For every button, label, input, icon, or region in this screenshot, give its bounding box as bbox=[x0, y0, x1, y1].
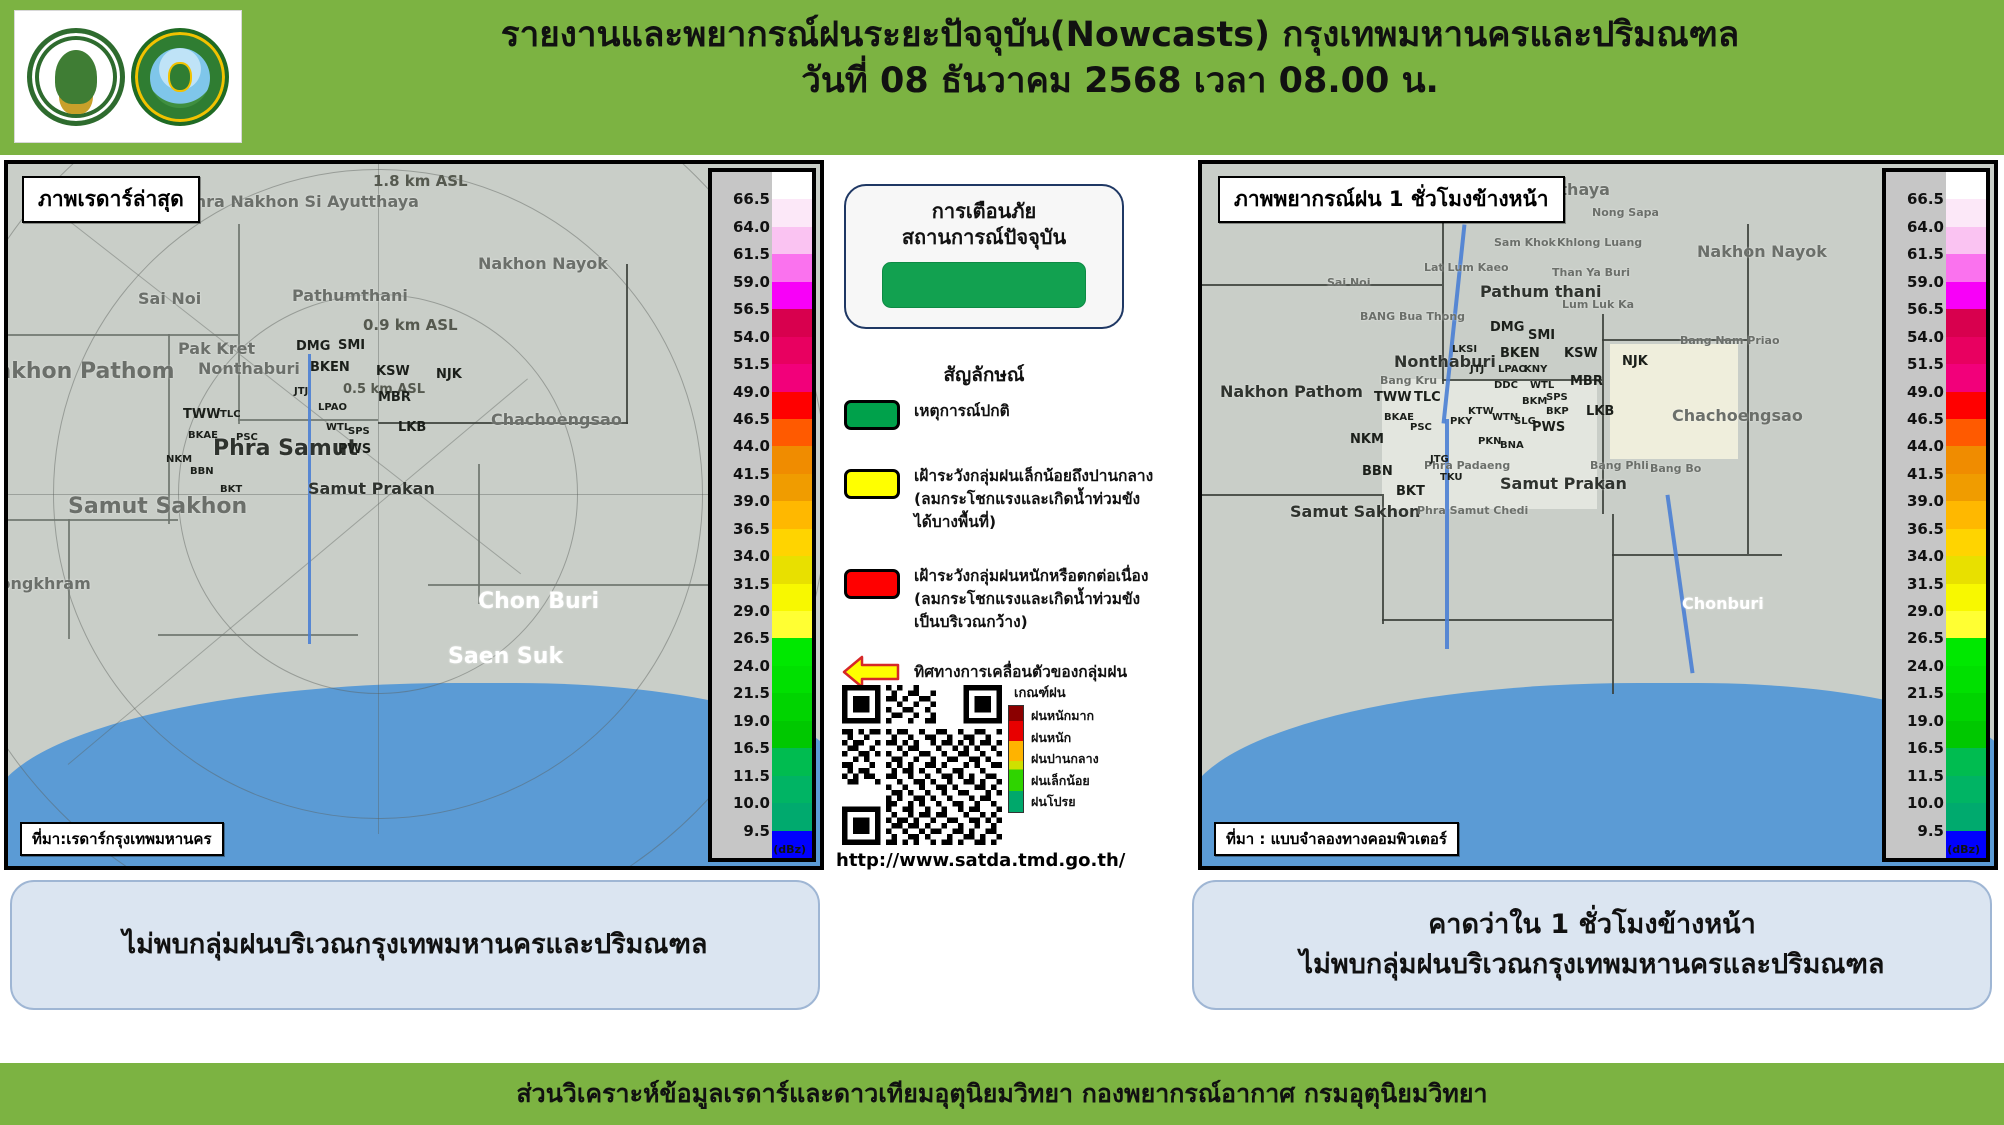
legend-text-direction: ทิศทางการเคลื่อนตัวของกลุ่มฝน bbox=[914, 661, 1127, 684]
border-line bbox=[1612, 554, 1782, 556]
colorbar-band bbox=[772, 172, 812, 199]
province-label: Chachoengsao bbox=[1672, 406, 1803, 425]
station-code: NKM bbox=[1350, 432, 1384, 447]
border-line bbox=[1747, 224, 1749, 554]
station-code: SMI bbox=[338, 338, 365, 353]
legend-line: ได้บางพื้นที่) bbox=[914, 511, 1153, 534]
colorbar-band bbox=[772, 254, 812, 281]
colorbar-band bbox=[1946, 392, 1986, 419]
colorbar-tick-label: 49.0 bbox=[1907, 383, 1944, 401]
colorbar-tick-label: 61.5 bbox=[733, 245, 770, 263]
page-title: รายงานและพยากรณ์ฝนระยะปัจจุบัน(Nowcasts)… bbox=[250, 14, 1990, 105]
rain-scale-title: เกณฑ์ฝน bbox=[1008, 682, 1184, 703]
legend-item-yellow-warning: เฝ้าระวังกลุ่มฝนเล็กน้อยถึงปานกลาง (ลมกร… bbox=[844, 465, 1184, 534]
border-line bbox=[1382, 619, 1612, 621]
province-label: Sam Khok bbox=[1494, 236, 1556, 249]
forecast-message-box: คาดว่าใน 1 ชั่วโมงข้างหน้า ไม่พบกลุ่มฝนบ… bbox=[1192, 880, 1992, 1010]
province-label: Phra Samut Chedi bbox=[1417, 504, 1528, 517]
colorbar-tick-label: 66.5 bbox=[733, 190, 770, 208]
colorbar-band bbox=[772, 337, 812, 364]
station-code: NKM bbox=[166, 454, 192, 465]
rain-scale-gradient-bar bbox=[1008, 705, 1024, 813]
colorbar-tick-label: 64.0 bbox=[733, 218, 770, 236]
colorbar-tick-label: 11.5 bbox=[1907, 767, 1944, 785]
forecast-colorbar-labels: 66.564.061.559.056.554.051.549.046.544.0… bbox=[1886, 172, 1946, 858]
colorbar-band bbox=[1946, 419, 1986, 446]
station-code: DDC bbox=[1494, 380, 1518, 391]
province-label: Songkhram bbox=[4, 574, 91, 593]
colorbar-band bbox=[772, 227, 812, 254]
forecast-colorbar-strip bbox=[1946, 172, 1986, 858]
colorbar-band bbox=[772, 474, 812, 501]
colorbar-band bbox=[772, 556, 812, 583]
legend-swatch-red bbox=[844, 569, 900, 599]
province-label: Nakhon Pathom bbox=[1220, 382, 1363, 401]
station-code: BBN bbox=[1362, 464, 1393, 479]
border-line bbox=[1202, 494, 1382, 496]
station-code: SMI bbox=[1528, 328, 1555, 343]
rain-intensity-scale: เกณฑ์ฝน ฝนหนักมาก ฝนหนัก ฝนปานกลาง ฝนเล็… bbox=[1008, 682, 1184, 813]
colorbar-band bbox=[1946, 693, 1986, 720]
colorbar-tick-label: 29.0 bbox=[1907, 602, 1944, 620]
station-code: TWW bbox=[1374, 390, 1412, 405]
colorbar-tick-label: 51.5 bbox=[733, 355, 770, 373]
colorbar-tick-label: 34.0 bbox=[733, 547, 770, 565]
forecast-panel[interactable]: Suphan Buri Phra Nakhon Si Ayutthaya Non… bbox=[1198, 160, 1998, 870]
colorbar-band bbox=[1946, 337, 1986, 364]
colorbar-tick-label: 51.5 bbox=[1907, 355, 1944, 373]
station-code: LPAO bbox=[318, 402, 347, 413]
border-line bbox=[478, 464, 480, 604]
station-code: BKM bbox=[1522, 396, 1547, 407]
forecast-map-frame: Suphan Buri Phra Nakhon Si Ayutthaya Non… bbox=[1198, 160, 1998, 870]
colorbar-tick-label: 31.5 bbox=[1907, 575, 1944, 593]
province-label: BANG Bua Thong bbox=[1360, 310, 1465, 323]
province-label: Lat Lum Kaeo bbox=[1424, 261, 1509, 274]
station-code: JTG bbox=[1430, 454, 1449, 465]
colorbar-band bbox=[1946, 638, 1986, 665]
station-code: DMG bbox=[1490, 320, 1524, 335]
warning-status-card[interactable]: การเตือนภัย สถานการณ์ปัจจุบัน bbox=[844, 184, 1124, 329]
colorbar-tick-label: 16.5 bbox=[733, 739, 770, 757]
station-code: LPAO bbox=[1498, 364, 1527, 375]
colorbar-band bbox=[772, 693, 812, 720]
station-code: WTL bbox=[326, 422, 350, 433]
nowcast-page: รายงานและพยากรณ์ฝนระยะปัจจุบัน(Nowcasts)… bbox=[0, 0, 2004, 1125]
border-line bbox=[8, 519, 178, 521]
province-label: Khlong Luang bbox=[1557, 236, 1642, 249]
province-label: Pak Kret bbox=[178, 339, 255, 358]
colorbar-tick-label: 24.0 bbox=[1907, 657, 1944, 675]
colorbar-tick-label: 39.0 bbox=[1907, 492, 1944, 510]
legend-line: เหตุการณ์ปกติ bbox=[914, 400, 1010, 423]
colorbar-tick-label: 39.0 bbox=[733, 492, 770, 510]
station-code: PKY bbox=[1450, 416, 1472, 427]
radar-panel[interactable]: 1.8 km ASL 0.9 km ASL 0.5 km ASL Suphan … bbox=[4, 160, 824, 870]
message-line: คาดว่าใน 1 ชั่วโมงข้างหน้า bbox=[1428, 905, 1756, 946]
colorbar-band bbox=[1946, 529, 1986, 556]
rain-scale-labels: ฝนหนักมาก ฝนหนัก ฝนปานกลาง ฝนเล็กน้อย ฝน… bbox=[1024, 705, 1099, 813]
province-label: Chachoengsao bbox=[491, 410, 622, 429]
province-label: Nong Sapa bbox=[1592, 206, 1659, 219]
colorbar-band bbox=[772, 584, 812, 611]
colorbar-tick-label: 36.5 bbox=[733, 520, 770, 538]
colorbar-tick-label: 64.0 bbox=[1907, 218, 1944, 236]
altitude-label-1: 1.8 km ASL bbox=[373, 172, 468, 190]
station-code: BKT bbox=[1396, 484, 1425, 499]
colorbar-band bbox=[772, 501, 812, 528]
legend-line: เฝ้าระวังกลุ่มฝนหนักหรือตกต่อเนื่อง bbox=[914, 565, 1148, 588]
colorbar-band bbox=[772, 721, 812, 748]
colorbar-band bbox=[1946, 199, 1986, 226]
station-code: PSC bbox=[236, 432, 258, 443]
colorbar-tick-label: 11.5 bbox=[733, 767, 770, 785]
station-code: KSW bbox=[376, 364, 410, 379]
colorbar-band bbox=[1946, 666, 1986, 693]
warning-card-line-1: การเตือนภัย bbox=[846, 198, 1122, 224]
colorbar-tick-label: 44.0 bbox=[1907, 437, 1944, 455]
qr-code-satda-tmd[interactable] bbox=[842, 685, 1002, 849]
colorbar-band bbox=[772, 282, 812, 309]
colorbar-tick-label: 41.5 bbox=[1907, 465, 1944, 483]
colorbar-band bbox=[772, 529, 812, 556]
province-label: Phra Samut bbox=[213, 436, 358, 461]
province-label: Samut Prakan bbox=[1500, 474, 1627, 493]
rain-level-label: ฝนโปรย bbox=[1031, 791, 1099, 813]
symbols-section-title: สัญลักษณ์ bbox=[844, 360, 1124, 390]
radar-map-image: 1.8 km ASL 0.9 km ASL 0.5 km ASL Suphan … bbox=[8, 164, 820, 866]
colorbar-band bbox=[1946, 254, 1986, 281]
colorbar-band bbox=[772, 748, 812, 775]
colorbar-tick-label: 54.0 bbox=[1907, 328, 1944, 346]
colorbar-band bbox=[1946, 803, 1986, 830]
radar-colorbar-labels: 66.564.061.559.056.554.051.549.046.544.0… bbox=[712, 172, 772, 858]
province-label: Samut Sakhon bbox=[1290, 502, 1420, 521]
colorbar-tick-label: 41.5 bbox=[733, 465, 770, 483]
colorbar-tick-label: 61.5 bbox=[1907, 245, 1944, 263]
colorbar-tick-label: 29.0 bbox=[733, 602, 770, 620]
legend-text-normal: เหตุการณ์ปกติ bbox=[914, 400, 1010, 430]
station-code: BBN bbox=[190, 466, 214, 477]
colorbar-tick-label: 46.5 bbox=[1907, 410, 1944, 428]
colorbar-band bbox=[1946, 227, 1986, 254]
colorbar-tick-label: 34.0 bbox=[1907, 547, 1944, 565]
station-code: KNY bbox=[1524, 364, 1547, 375]
radar-panel-title-tag: ภาพเรดาร์ล่าสุด bbox=[22, 176, 200, 223]
radar-colorbar-strip bbox=[772, 172, 812, 858]
colorbar-tick-label: 10.0 bbox=[733, 794, 770, 812]
province-label: Bang Kru bbox=[1380, 374, 1437, 387]
border-line bbox=[158, 634, 358, 636]
legend-line: ทิศทางการเคลื่อนตัวของกลุ่มฝน bbox=[914, 661, 1127, 684]
province-label: Bang Bo bbox=[1650, 462, 1701, 475]
colorbar-band bbox=[1946, 556, 1986, 583]
station-code: DMG bbox=[296, 339, 330, 354]
title-line-2: วันที่ 08 ธันวาคม 2568 เวลา 08.00 น. bbox=[250, 58, 1990, 105]
forecast-map-image: Suphan Buri Phra Nakhon Si Ayutthaya Non… bbox=[1202, 164, 1994, 866]
rain-scale-rows: ฝนหนักมาก ฝนหนัก ฝนปานกลาง ฝนเล็กน้อย ฝน… bbox=[1008, 705, 1184, 813]
station-code: SPS bbox=[1546, 392, 1568, 403]
station-code: BKT bbox=[220, 484, 242, 495]
legend-item-red-warning: เฝ้าระวังกลุ่มฝนหนักหรือตกต่อเนื่อง (ลมก… bbox=[844, 565, 1184, 634]
colorbar-band bbox=[772, 803, 812, 830]
legend-line: (ลมกระโชกแรงและเกิดน้ำท่วมขัง bbox=[914, 488, 1153, 511]
station-code: SLG bbox=[1514, 416, 1536, 427]
forecast-colorbar-unit: (dBz) bbox=[1947, 843, 1980, 856]
station-code: BKEN bbox=[1500, 346, 1540, 361]
chao-phraya-river bbox=[308, 354, 311, 644]
colorbar-tick-label: 59.0 bbox=[1907, 273, 1944, 291]
colorbar-band bbox=[772, 611, 812, 638]
forecast-colorbar: 66.564.061.559.056.554.051.549.046.544.0… bbox=[1882, 168, 1990, 862]
station-code: TWW bbox=[183, 407, 221, 422]
station-code: PKN bbox=[1478, 436, 1501, 447]
station-code: PWS bbox=[1532, 420, 1565, 435]
station-code: BKEN bbox=[310, 360, 350, 375]
colorbar-tick-label: 59.0 bbox=[733, 273, 770, 291]
station-code: PWS bbox=[338, 442, 371, 457]
colorbar-band bbox=[772, 309, 812, 336]
border-line bbox=[626, 264, 628, 424]
colorbar-band bbox=[1946, 721, 1986, 748]
altitude-label-2: 0.9 km ASL bbox=[363, 316, 458, 334]
province-label: Lum Luk Ka bbox=[1562, 298, 1634, 311]
station-code: BNA bbox=[1500, 440, 1524, 451]
radar-map-frame: 1.8 km ASL 0.9 km ASL 0.5 km ASL Suphan … bbox=[4, 160, 824, 870]
colorbar-tick-label: 66.5 bbox=[1907, 190, 1944, 208]
station-code: MBR bbox=[378, 390, 411, 405]
qr-code-image bbox=[842, 685, 1002, 845]
tmd-department-seal-logo bbox=[131, 28, 229, 126]
tmd-royal-seal-logo bbox=[27, 28, 125, 126]
colorbar-band bbox=[1946, 364, 1986, 391]
rain-level-label: ฝนหนัก bbox=[1031, 727, 1099, 749]
station-code: MBR bbox=[1570, 374, 1603, 389]
radar-colorbar: 66.564.061.559.056.554.051.549.046.544.0… bbox=[708, 168, 816, 862]
rain-level-label: ฝนปานกลาง bbox=[1031, 748, 1099, 770]
province-label: Samut Sakhon bbox=[68, 494, 247, 519]
center-legend-column: การเตือนภัย สถานการณ์ปัจจุบัน สัญลักษณ์ … bbox=[832, 160, 1192, 1060]
colorbar-tick-label: 26.5 bbox=[1907, 629, 1944, 647]
colorbar-tick-label: 9.5 bbox=[1917, 822, 1944, 840]
colorbar-tick-label: 19.0 bbox=[1907, 712, 1944, 730]
station-code: KTW bbox=[1468, 406, 1494, 417]
rain-level-label: ฝนเล็กน้อย bbox=[1031, 770, 1099, 792]
legend-line: (ลมกระโชกแรงและเกิดน้ำท่วมขัง bbox=[914, 588, 1148, 611]
colorbar-tick-label: 19.0 bbox=[733, 712, 770, 730]
province-label: Nonthaburi bbox=[198, 359, 300, 378]
border-line bbox=[8, 334, 238, 336]
colorbar-band bbox=[772, 364, 812, 391]
province-label: Sai Noi bbox=[1327, 276, 1370, 289]
colorbar-band bbox=[1946, 501, 1986, 528]
province-label: Chon Buri bbox=[478, 589, 599, 614]
range-crosshair-v bbox=[378, 164, 379, 834]
colorbar-tick-label: 31.5 bbox=[733, 575, 770, 593]
legend-arrow-left-icon bbox=[842, 655, 900, 689]
rain-level-label: ฝนหนักมาก bbox=[1031, 705, 1099, 727]
station-code: KSW bbox=[1564, 346, 1598, 361]
page-footer: ส่วนวิเคราะห์ข้อมูลเรดาร์และดาวเทียมอุตุ… bbox=[0, 1063, 2004, 1125]
colorbar-tick-label: 21.5 bbox=[1907, 684, 1944, 702]
province-label: Pathumthani bbox=[292, 286, 408, 305]
colorbar-tick-label: 56.5 bbox=[1907, 300, 1944, 318]
province-label: Sai Noi bbox=[138, 289, 201, 308]
colorbar-tick-label: 54.0 bbox=[733, 328, 770, 346]
colorbar-band bbox=[772, 776, 812, 803]
radar-colorbar-unit: (dBz) bbox=[773, 843, 806, 856]
station-code: LKB bbox=[1586, 404, 1614, 419]
station-code: JTJ bbox=[1470, 364, 1484, 375]
station-code: NJK bbox=[1622, 354, 1648, 369]
colorbar-tick-label: 49.0 bbox=[733, 383, 770, 401]
colorbar-band bbox=[772, 419, 812, 446]
message-line: ไม่พบกลุ่มฝนบริเวณกรุงเทพมหานครและปริมณฑ… bbox=[123, 925, 708, 966]
colorbar-band bbox=[1946, 776, 1986, 803]
border-line bbox=[1612, 514, 1614, 694]
province-label: Chonburi bbox=[1682, 594, 1764, 613]
title-line-1: รายงานและพยากรณ์ฝนระยะปัจจุบัน(Nowcasts)… bbox=[250, 14, 1990, 58]
colorbar-tick-label: 9.5 bbox=[743, 822, 770, 840]
legend-text-red: เฝ้าระวังกลุ่มฝนหนักหรือตกต่อเนื่อง (ลมก… bbox=[914, 565, 1148, 634]
station-code: TLC bbox=[1414, 390, 1441, 405]
border-line bbox=[238, 224, 240, 424]
station-code: WTL bbox=[1530, 380, 1554, 391]
province-label: Nakhon Nayok bbox=[1697, 242, 1827, 261]
legend-swatch-yellow bbox=[844, 469, 900, 499]
station-code: BKAE bbox=[188, 430, 218, 441]
province-label: Nakhon Nayok bbox=[478, 254, 608, 273]
legend-item-normal: เหตุการณ์ปกติ bbox=[844, 400, 1174, 430]
station-code: NJK bbox=[436, 367, 462, 382]
colorbar-band bbox=[1946, 172, 1986, 199]
radar-source-tag: ที่มา:เรดาร์กรุงเทพมหานคร bbox=[20, 822, 224, 856]
station-code: PSC bbox=[1410, 422, 1432, 433]
legend-text-yellow: เฝ้าระวังกลุ่มฝนเล็กน้อยถึงปานกลาง (ลมกร… bbox=[914, 465, 1153, 534]
station-code: LKB bbox=[398, 420, 426, 435]
station-code: BKP bbox=[1546, 406, 1569, 417]
colorbar-band bbox=[772, 392, 812, 419]
legend-swatch-green bbox=[844, 400, 900, 430]
legend-line: เฝ้าระวังกลุ่มฝนเล็กน้อยถึงปานกลาง bbox=[914, 465, 1153, 488]
province-label: Bang Nam Priao bbox=[1680, 334, 1780, 347]
border-line bbox=[428, 584, 728, 586]
colorbar-band bbox=[1946, 446, 1986, 473]
colorbar-band bbox=[772, 446, 812, 473]
station-code: TKU bbox=[1440, 472, 1463, 483]
station-code: LKSI bbox=[1452, 344, 1477, 355]
province-label: Phra Nakhon Si Ayutthaya bbox=[183, 192, 419, 211]
warning-card-line-2: สถานการณ์ปัจจุบัน bbox=[846, 224, 1122, 250]
province-label: Samut Prakan bbox=[308, 479, 435, 498]
legend-line: เป็นบริเวณกว้าง) bbox=[914, 611, 1148, 634]
station-code: JTJ bbox=[294, 386, 308, 397]
colorbar-tick-label: 26.5 bbox=[733, 629, 770, 647]
logo-container bbox=[14, 10, 242, 143]
status-green-normal bbox=[882, 262, 1086, 308]
page-header: รายงานและพยากรณ์ฝนระยะปัจจุบัน(Nowcasts)… bbox=[0, 0, 2004, 155]
colorbar-band bbox=[1946, 309, 1986, 336]
colorbar-tick-label: 36.5 bbox=[1907, 520, 1944, 538]
colorbar-tick-label: 10.0 bbox=[1907, 794, 1944, 812]
colorbar-tick-label: 21.5 bbox=[733, 684, 770, 702]
colorbar-tick-label: 56.5 bbox=[733, 300, 770, 318]
colorbar-band bbox=[772, 199, 812, 226]
colorbar-band bbox=[1946, 584, 1986, 611]
colorbar-tick-label: 46.5 bbox=[733, 410, 770, 428]
current-situation-message-box: ไม่พบกลุ่มฝนบริเวณกรุงเทพมหานครและปริมณฑ… bbox=[10, 880, 820, 1010]
forecast-source-tag: ที่มา : แบบจำลองทางคอมพิวเตอร์ bbox=[1214, 822, 1459, 856]
province-label: Nakhon Pathom bbox=[4, 359, 175, 384]
footer-text: ส่วนวิเคราะห์ข้อมูลเรดาร์และดาวเทียมอุตุ… bbox=[516, 1074, 1487, 1114]
station-code: TLC bbox=[220, 409, 241, 420]
message-line: ไม่พบกลุ่มฝนบริเวณกรุงเทพมหานครและปริมณฑ… bbox=[1300, 945, 1885, 986]
colorbar-tick-label: 44.0 bbox=[733, 437, 770, 455]
satda-url-link[interactable]: http://www.satda.tmd.go.th/ bbox=[836, 850, 1136, 871]
station-code: SPS bbox=[348, 426, 370, 437]
colorbar-band bbox=[1946, 474, 1986, 501]
colorbar-tick-label: 24.0 bbox=[733, 657, 770, 675]
colorbar-tick-label: 16.5 bbox=[1907, 739, 1944, 757]
colorbar-band bbox=[1946, 611, 1986, 638]
colorbar-band bbox=[772, 666, 812, 693]
colorbar-band bbox=[1946, 282, 1986, 309]
province-label: Saen Suk bbox=[448, 644, 563, 669]
province-label: Than Ya Buri bbox=[1552, 266, 1630, 279]
colorbar-band bbox=[1946, 748, 1986, 775]
border-line bbox=[1202, 284, 1442, 286]
forecast-panel-title-tag: ภาพพยากรณ์ฝน 1 ชั่วโมงข้างหน้า bbox=[1218, 176, 1565, 223]
province-label: Bang Phli bbox=[1590, 459, 1649, 472]
colorbar-band bbox=[772, 638, 812, 665]
